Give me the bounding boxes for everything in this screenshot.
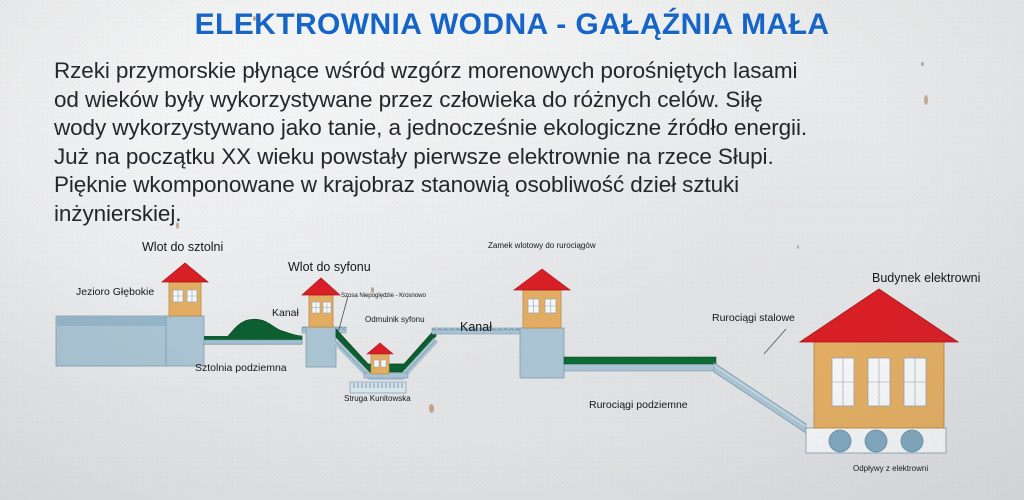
struga-kunitowska-stream	[350, 382, 406, 393]
label-outflows: Odpływy z elektrowni	[853, 464, 928, 473]
power-house-building	[800, 289, 958, 453]
page-title: ELEKTROWNIA WODNA - GAŁĄŹNIA MAŁA	[0, 8, 1024, 42]
hydro-scheme-diagram: Jezioro Głębokie Wlot do sztolni Sztolni…	[0, 232, 1024, 500]
description-paragraph: Rzeki przymorskie płynące wśród wzgórz m…	[54, 57, 984, 229]
label-road: Szosa Niepoględzie - Krosnowo	[341, 292, 426, 299]
label-stream: Struga Kunitowska	[344, 394, 411, 403]
label-siphon-inlet: Wlot do syfonu	[288, 260, 371, 274]
desilter-house	[367, 343, 393, 374]
underground-adit-line	[204, 340, 302, 344]
lake-glebokie-shape	[56, 316, 166, 366]
description-line-3: wody wykorzystywano jako tanie, a jednoc…	[54, 114, 984, 143]
label-canal-right: Kanał	[460, 320, 492, 334]
adit-inlet-building	[162, 263, 208, 366]
label-adit-inlet: Wlot do sztolni	[142, 240, 223, 254]
siphon-inlet-building	[302, 278, 340, 367]
description-line-1: Rzeki przymorskie płynące wśród wzgórz m…	[54, 57, 984, 86]
label-underground-adit: Sztolnia podziemna	[195, 362, 287, 374]
description-line-2: od wieków były wykorzystywane przez czło…	[54, 86, 984, 115]
steel-penstocks	[714, 363, 806, 433]
description-line-5: Pięknie wkomponowane w krajobraz stanowi…	[54, 171, 984, 200]
penstock-gate-building	[514, 269, 570, 378]
label-siphon-desilter: Odmulnik syfonu	[365, 315, 425, 324]
information-sign-board: ELEKTROWNIA WODNA - GAŁĄŹNIA MAŁA Rzeki …	[0, 0, 1024, 500]
description-line-6: inżynierskiej.	[54, 200, 984, 229]
label-canal-left: Kanał	[272, 307, 299, 319]
description-line-4: Już na początku XX wieku powstały pierws…	[54, 143, 984, 172]
steel-penstocks-leader-line	[764, 329, 786, 354]
label-underground-penstocks: Rurociągi podziemne	[589, 399, 688, 411]
hydro-scheme-drawing	[0, 232, 1024, 500]
label-power-house: Budynek elektrowni	[872, 271, 980, 285]
label-lake: Jezioro Głębokie	[76, 286, 154, 298]
label-penstock-gate: Zamek wlotowy do rurociągów	[488, 241, 596, 250]
underground-penstocks	[564, 357, 716, 371]
label-steel-penstocks: Rurociągi stalowe	[712, 312, 795, 324]
